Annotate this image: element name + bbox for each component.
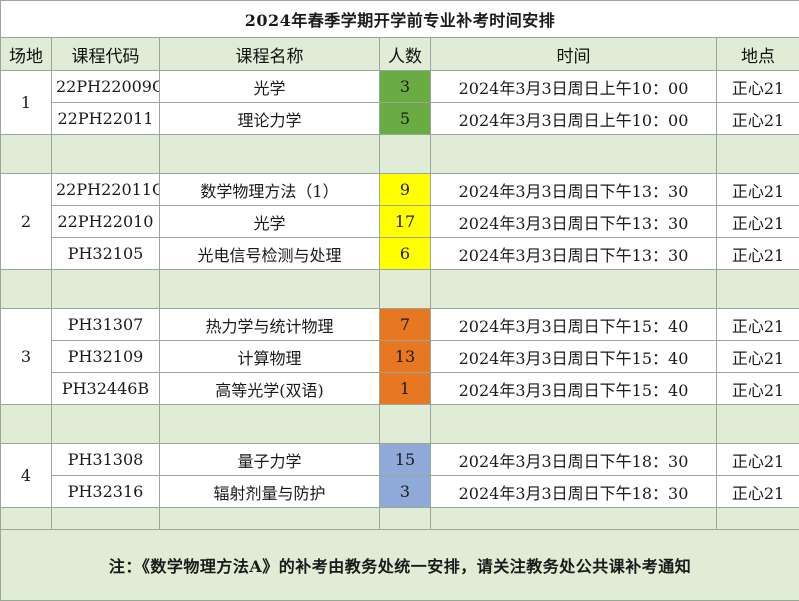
exam-time-cell: 2024年3月3日周日下午15：40 [431,373,717,405]
spacer-cell [52,508,160,530]
course-name-cell: 光学 [160,206,380,238]
spacer-cell [380,405,431,444]
table-row: 22PH22011理论力学52024年3月3日周日上午10：00正心21 [1,103,799,135]
spacer-cell [1,270,52,309]
table-row: 3PH31307热力学与统计物理72024年3月3日周日下午15：40正心21 [1,309,799,341]
table-row: 22PH22010光学172024年3月3日周日下午13：30正心21 [1,206,799,238]
exam-time-cell: 2024年3月3日周日下午18：30 [431,444,717,476]
course-name-cell: 光学 [160,71,380,103]
course-code-cell: 22PH22010 [52,206,160,238]
table-row: 4PH31308量子力学152024年3月3日周日下午18：30正心21 [1,444,799,476]
venue-cell: 3 [1,309,52,405]
column-header-count: 人数 [380,38,431,71]
spacer-row [1,135,799,174]
exam-place-cell: 正心21 [717,476,799,508]
spacer-cell [380,135,431,174]
spacer-cell [1,508,52,530]
course-code-cell: PH31307 [52,309,160,341]
footer-note-row: 注：《数学物理方法A》的补考由教务处统一安排，请关注教务处公共课补考通知 [1,530,799,601]
exam-time-cell: 2024年3月3日周日下午15：40 [431,309,717,341]
table-row: PH32446B高等光学(双语)12024年3月3日周日下午15：40正心21 [1,373,799,405]
spacer-cell [431,135,717,174]
course-code-cell: 22PH22011C [52,174,160,206]
spacer-cell [717,405,799,444]
course-name-cell: 热力学与统计物理 [160,309,380,341]
course-name-cell: 辐射剂量与防护 [160,476,380,508]
student-count-cell: 1 [380,373,431,405]
spacer-cell [160,508,380,530]
page-title: 2024年春季学期开学前专业补考时间安排 [1,1,799,38]
exam-place-cell: 正心21 [717,444,799,476]
spacer-cell [717,270,799,309]
course-code-cell: PH32446B [52,373,160,405]
table-row: 122PH22009C光学32024年3月3日周日上午10：00正心21 [1,71,799,103]
exam-time-cell: 2024年3月3日周日下午15：40 [431,341,717,373]
course-code-cell: 22PH22009C [52,71,160,103]
course-code-cell: PH31308 [52,444,160,476]
venue-cell: 4 [1,444,52,508]
spacer-cell [52,405,160,444]
spacer-cell [160,405,380,444]
exam-time-cell: 2024年3月3日周日上午10：00 [431,103,717,135]
spacer-row [1,508,799,530]
student-count-cell: 6 [380,238,431,270]
title-row: 2024年春季学期开学前专业补考时间安排 [1,1,799,38]
exam-place-cell: 正心21 [717,373,799,405]
course-name-cell: 量子力学 [160,444,380,476]
exam-time-cell: 2024年3月3日周日上午10：00 [431,71,717,103]
spacer-cell [160,270,380,309]
student-count-cell: 9 [380,174,431,206]
exam-time-cell: 2024年3月3日周日下午13：30 [431,174,717,206]
exam-place-cell: 正心21 [717,71,799,103]
student-count-cell: 5 [380,103,431,135]
spacer-cell [380,270,431,309]
spacer-row [1,405,799,444]
exam-place-cell: 正心21 [717,174,799,206]
table-row: PH32105光电信号检测与处理62024年3月3日周日下午13：30正心21 [1,238,799,270]
spacer-cell [717,135,799,174]
course-code-cell: 22PH22011 [52,103,160,135]
spacer-cell [431,508,717,530]
table-row: PH32109计算物理132024年3月3日周日下午15：40正心21 [1,341,799,373]
spacer-cell [380,508,431,530]
column-header-place: 地点 [717,38,799,71]
table-row: PH32316辐射剂量与防护32024年3月3日周日下午18：30正心21 [1,476,799,508]
column-header-venue: 场地 [1,38,52,71]
column-header-time: 时间 [431,38,717,71]
spacer-cell [717,508,799,530]
spacer-cell [52,270,160,309]
exam-place-cell: 正心21 [717,341,799,373]
exam-time-cell: 2024年3月3日周日下午13：30 [431,238,717,270]
exam-place-cell: 正心21 [717,103,799,135]
table-header-row: 场地课程代码课程名称人数时间地点 [1,38,799,71]
course-code-cell: PH32109 [52,341,160,373]
course-name-cell: 光电信号检测与处理 [160,238,380,270]
spacer-cell [52,135,160,174]
venue-cell: 2 [1,174,52,270]
student-count-cell: 7 [380,309,431,341]
course-name-cell: 数学物理方法（1） [160,174,380,206]
column-header-name: 课程名称 [160,38,380,71]
footer-note: 注：《数学物理方法A》的补考由教务处统一安排，请关注教务处公共课补考通知 [1,530,799,601]
exam-place-cell: 正心21 [717,206,799,238]
course-name-cell: 高等光学(双语) [160,373,380,405]
exam-place-cell: 正心21 [717,309,799,341]
student-count-cell: 3 [380,71,431,103]
spreadsheet-sheet: 2024年春季学期开学前专业补考时间安排场地课程代码课程名称人数时间地点122P… [0,0,799,593]
course-code-cell: PH32105 [52,238,160,270]
student-count-cell: 17 [380,206,431,238]
student-count-cell: 15 [380,444,431,476]
column-header-code: 课程代码 [52,38,160,71]
course-name-cell: 理论力学 [160,103,380,135]
exam-schedule-table: 2024年春季学期开学前专业补考时间安排场地课程代码课程名称人数时间地点122P… [0,0,799,601]
student-count-cell: 13 [380,341,431,373]
table-row: 222PH22011C数学物理方法（1）92024年3月3日周日下午13：30正… [1,174,799,206]
spacer-cell [1,135,52,174]
spacer-cell [431,405,717,444]
exam-time-cell: 2024年3月3日周日下午18：30 [431,476,717,508]
spacer-cell [160,135,380,174]
course-name-cell: 计算物理 [160,341,380,373]
exam-time-cell: 2024年3月3日周日下午13：30 [431,206,717,238]
course-code-cell: PH32316 [52,476,160,508]
spacer-cell [1,405,52,444]
venue-cell: 1 [1,71,52,135]
exam-place-cell: 正心21 [717,238,799,270]
spacer-cell [431,270,717,309]
student-count-cell: 3 [380,476,431,508]
spacer-row [1,270,799,309]
